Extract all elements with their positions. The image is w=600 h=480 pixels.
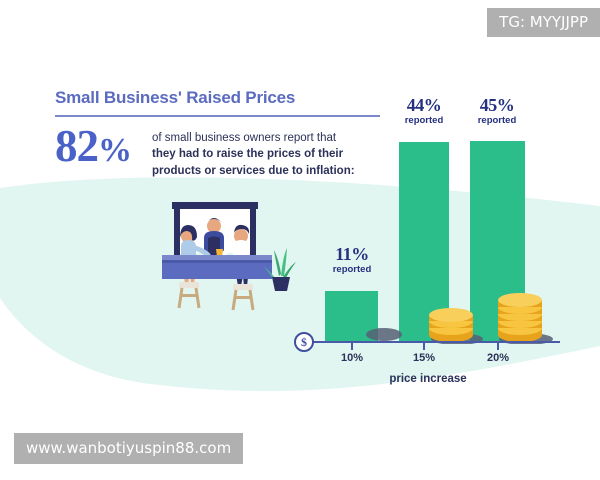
dollar-icon: $	[294, 332, 314, 352]
coin-stack-15-percent	[424, 308, 486, 344]
bar-value-15-percent: 44%	[388, 96, 460, 114]
headline-stat-percent: %	[98, 132, 131, 169]
watermark-top: TG: MYYJJPP	[487, 8, 600, 37]
x-tick-label-10-percent: 10%	[326, 352, 378, 364]
x-tick-label-15-percent: 15%	[398, 352, 450, 364]
bar-value-10-percent: 11%	[316, 245, 388, 263]
bar-chart: 11% reported 44% reported 45% reported $…	[292, 90, 552, 390]
x-tick-15-percent	[423, 343, 425, 350]
small-business-counter-illustration	[148, 198, 300, 320]
x-tick-20-percent	[497, 343, 499, 350]
page-title: Small Business' Raised Prices	[55, 88, 295, 108]
bar-label-10-percent: 11% reported	[316, 245, 388, 275]
coin-stack-20-percent	[492, 286, 556, 344]
x-tick-label-20-percent: 20%	[472, 352, 524, 364]
headline-stat: 82%	[55, 124, 131, 169]
bar-value-20-percent: 45%	[461, 96, 533, 114]
x-axis-line	[310, 341, 560, 343]
bar-label-15-percent: 44% reported	[388, 96, 460, 126]
watermark-bottom: www.wanbotiyuspin88.com	[14, 433, 243, 464]
bar-label-20-percent: 45% reported	[461, 96, 533, 126]
headline-stat-value: 82	[55, 121, 98, 171]
bar-sublabel-20-percent: reported	[461, 116, 533, 126]
infographic-canvas: Small Business' Raised Prices 82% of sma…	[0, 0, 600, 480]
x-tick-10-percent	[351, 343, 353, 350]
bar-sublabel-15-percent: reported	[388, 116, 460, 126]
coin-shadow-10-percent	[366, 328, 402, 341]
bar-sublabel-10-percent: reported	[316, 265, 388, 275]
x-axis-title: price increase	[358, 373, 498, 385]
